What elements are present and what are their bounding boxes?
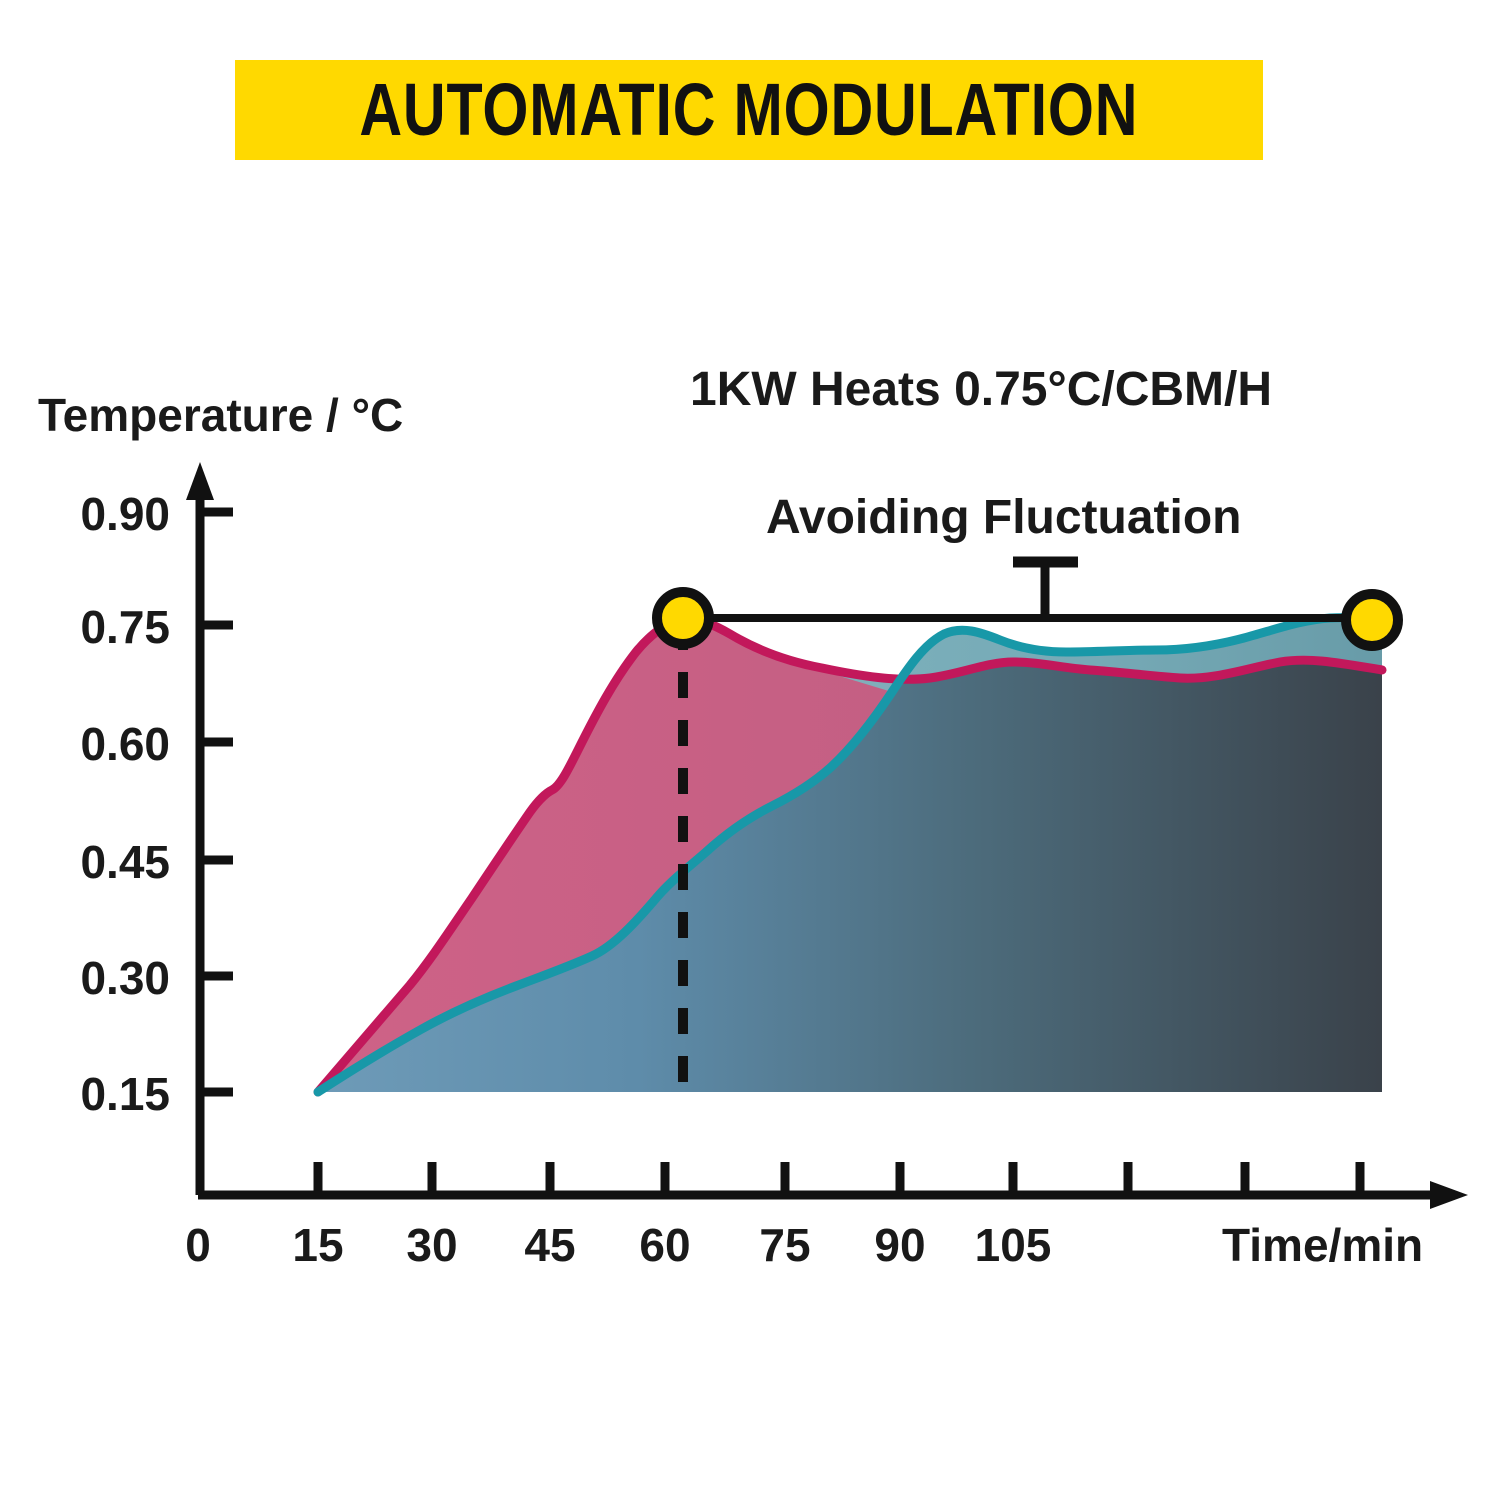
x-tick-label-15: 15 [263,1218,373,1272]
avoiding-fluctuation-annotation: Avoiding Fluctuation [766,490,1242,545]
x-tick-label-75: 75 [730,1218,840,1272]
fluctuation-indicator [1013,562,1078,617]
x-tick-label-60: 60 [610,1218,720,1272]
x-tick-label-45: 45 [495,1218,605,1272]
temperature-time-chart [0,0,1500,1500]
x-tick-label-90: 90 [845,1218,955,1272]
y-tick-label-030: 0.30 [20,951,170,1005]
x-axis-title: Time/min [1222,1218,1423,1272]
y-tick-label-045: 0.45 [20,835,170,889]
x-axis-ticks [318,1162,1360,1195]
y-tick-label-075: 0.75 [20,600,170,654]
marker-start-setpoint[interactable] [657,592,709,644]
y-tick-label-090: 0.90 [20,487,170,541]
y-tick-label-015: 0.15 [20,1067,170,1121]
heat-rate-annotation: 1KW Heats 0.75°C/CBM/H [690,362,1272,417]
x-tick-label-0: 0 [143,1218,253,1272]
y-tick-label-060: 0.60 [20,717,170,771]
y-axis-title: Temperature / °C [38,388,403,442]
x-axis-arrow-icon [1430,1181,1468,1209]
marker-end-setpoint[interactable] [1346,594,1398,646]
y-axis-ticks [200,512,233,1092]
x-tick-label-30: 30 [377,1218,487,1272]
y-axis-arrow-icon [186,462,214,500]
x-tick-label-105: 105 [958,1218,1068,1272]
